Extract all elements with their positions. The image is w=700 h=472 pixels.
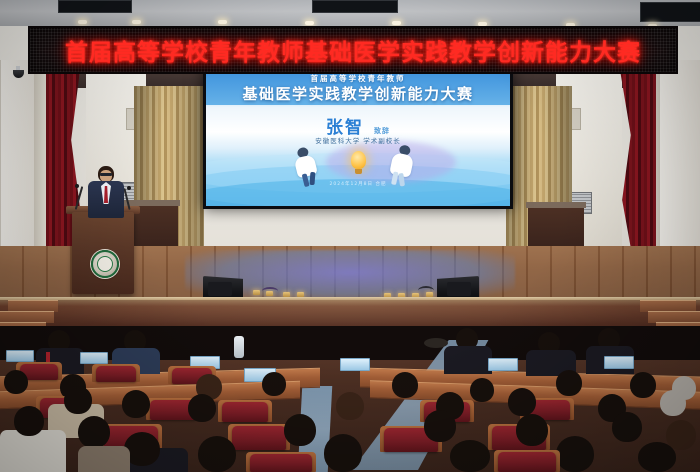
microphone-head-left <box>75 184 79 188</box>
water-bottle <box>234 336 244 358</box>
audience-head <box>508 388 536 416</box>
audience-head <box>516 414 548 446</box>
ceiling-light <box>78 20 87 24</box>
stage-cabinet-top-right <box>526 202 586 208</box>
audience-head <box>556 370 582 396</box>
ceiling-light <box>218 20 227 24</box>
audience-head <box>424 410 456 442</box>
ceiling-light <box>392 21 401 25</box>
name-placard <box>6 350 34 362</box>
audience-head <box>262 372 286 396</box>
auditorium-scene: 首届高等学校青年教师 基础医学实践教学创新能力大赛 张智 致辞 安徽医科大学 学… <box>0 0 700 472</box>
speaker-person <box>86 166 126 218</box>
audience-head <box>122 390 150 418</box>
ceiling-vent-right <box>640 2 700 22</box>
screen-date-line: 2024年12月8日 合肥 <box>206 181 510 187</box>
speaker-grill <box>208 282 232 296</box>
audience-head <box>470 378 494 402</box>
ceiling-vent-left <box>58 0 132 13</box>
audience-head <box>336 392 364 420</box>
speaker-grill <box>447 282 471 296</box>
microphone-head-right <box>127 186 131 190</box>
led-banner: 首届高等学校青年教师基础医学实践教学创新能力大赛 <box>28 26 678 74</box>
projection-screen: 首届高等学校青年教师 基础医学实践教学创新能力大赛 张智 致辞 安徽医科大学 学… <box>203 66 513 209</box>
lightbulb-base <box>355 169 362 174</box>
footlight <box>253 290 260 295</box>
illustration-lightbulb <box>351 151 366 174</box>
screen-content: 首届高等学校青年教师 基础医学实践教学创新能力大赛 张智 致辞 安徽医科大学 学… <box>206 69 510 206</box>
audience-head <box>392 372 418 398</box>
audience-head <box>660 390 686 416</box>
audience-head <box>638 442 676 472</box>
screen-speaker-action: 致辞 <box>374 127 390 135</box>
audience-head <box>4 370 28 394</box>
audience-head <box>450 440 490 472</box>
ceiling-light <box>132 20 141 24</box>
audience-head <box>198 436 236 472</box>
name-placard <box>80 352 108 364</box>
name-placard <box>340 358 370 371</box>
podium-emblem-icon <box>91 250 119 278</box>
audience-head <box>64 386 92 414</box>
footlight-cable-right <box>418 286 434 295</box>
audience-head <box>188 394 216 422</box>
audience-head <box>14 406 44 436</box>
podium <box>72 212 134 294</box>
floor-drain-right <box>424 338 448 348</box>
screen-speaker-affiliation: 安徽医科大学 学术副校长 <box>206 135 510 145</box>
led-banner-text: 首届高等学校青年教师基础医学实践教学创新能力大赛 <box>65 33 641 67</box>
audience-body <box>0 430 66 472</box>
seat <box>96 366 136 382</box>
seat <box>232 426 286 450</box>
ceiling-vent-center <box>312 0 398 13</box>
audience-body <box>444 346 492 374</box>
audience-head <box>612 412 642 442</box>
audience-head <box>556 436 594 472</box>
seat <box>222 402 268 422</box>
name-placard <box>604 356 634 369</box>
audience-head <box>324 434 362 472</box>
speaker-glasses-icon <box>100 173 112 176</box>
footlight-cable-left <box>262 287 278 295</box>
audience-head <box>78 416 110 448</box>
seat <box>498 452 556 472</box>
ceiling-light <box>305 21 314 25</box>
audience-head <box>284 414 316 446</box>
screen-title: 基础医学实践教学创新能力大赛 <box>206 83 510 104</box>
audience-head <box>630 372 656 398</box>
podium-emblem-inner <box>97 256 113 272</box>
lightbulb-glass <box>351 151 366 169</box>
audience-body <box>78 446 130 472</box>
name-placard <box>488 358 518 371</box>
seat <box>250 454 312 472</box>
